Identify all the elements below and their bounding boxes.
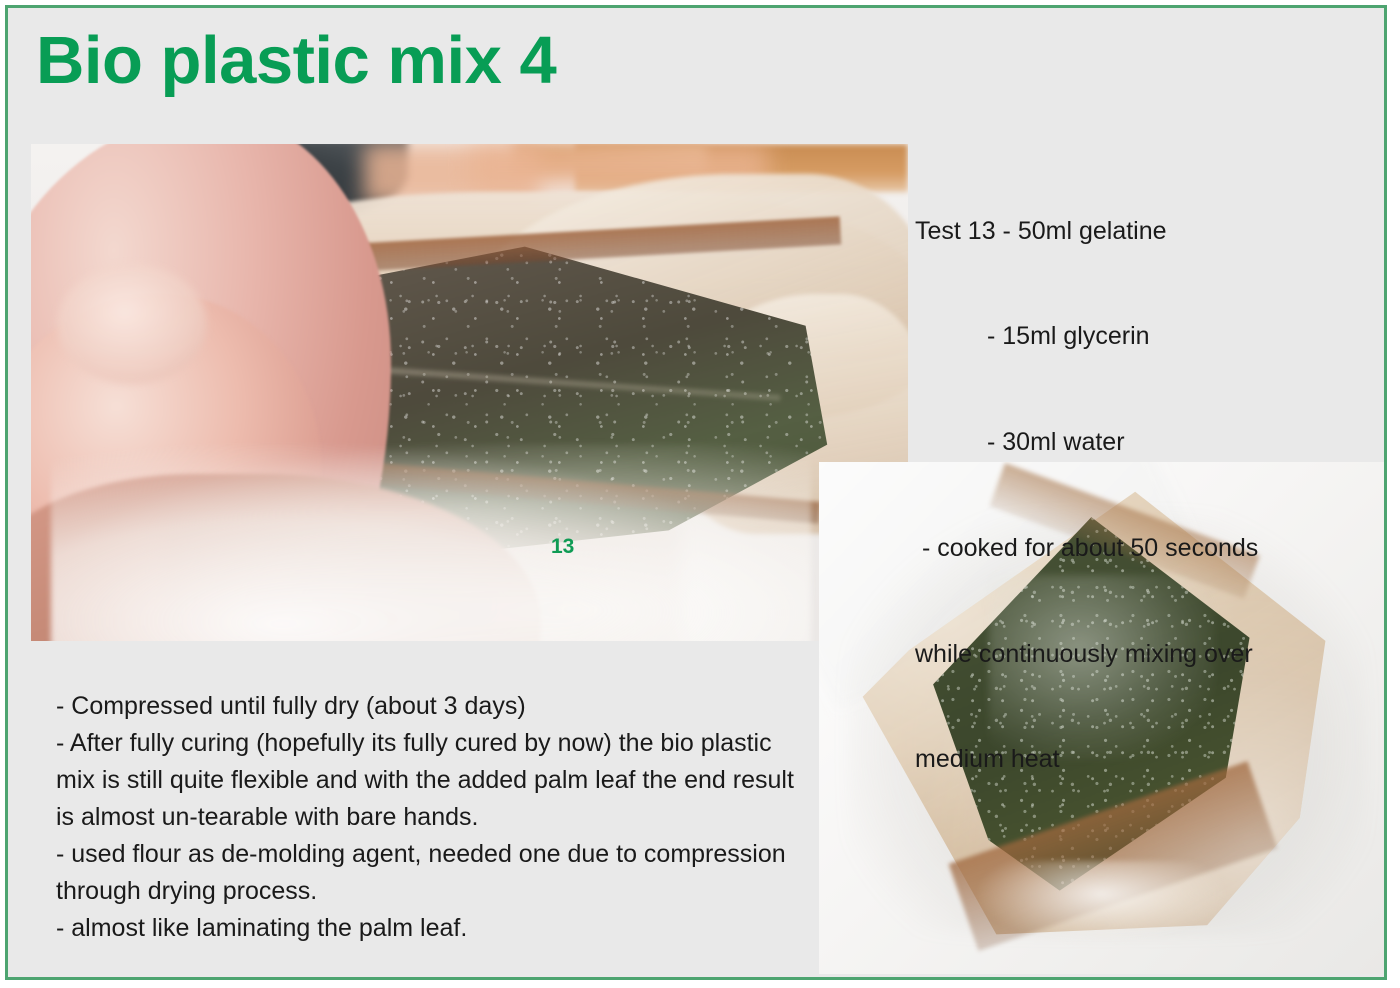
notes-paragraph: - almost like laminating the palm leaf. xyxy=(56,910,816,947)
slide-number: 13 xyxy=(551,535,574,559)
recipe-line: - cooked for about 50 seconds xyxy=(915,531,1355,566)
notes-paragraph: - After fully curing (hopefully its full… xyxy=(56,725,816,836)
foam-edge xyxy=(51,444,811,641)
recipe-line: - 15ml glycerin xyxy=(915,319,1355,354)
recipe-text-block: Test 13 - 50ml gelatine - 15ml glycerin … xyxy=(915,143,1355,848)
recipe-line: Test 13 - 50ml gelatine xyxy=(915,214,1355,249)
slide: Bio plastic mix 4 13 xyxy=(0,0,1400,988)
recipe-line: while continuously mixing over xyxy=(915,637,1355,672)
notes-paragraph: - Compressed until fully dry (about 3 da… xyxy=(56,688,816,725)
page-title: Bio plastic mix 4 xyxy=(36,26,556,96)
notes-text-block: - Compressed until fully dry (about 3 da… xyxy=(56,688,816,947)
recipe-line: medium heat xyxy=(915,742,1355,777)
notes-paragraph: - used flour as de-molding agent, needed… xyxy=(56,836,816,910)
thumbnail xyxy=(57,264,207,384)
recipe-line: - 30ml water xyxy=(915,425,1355,460)
main-photo xyxy=(31,144,908,641)
gloss-highlight xyxy=(977,861,1226,943)
